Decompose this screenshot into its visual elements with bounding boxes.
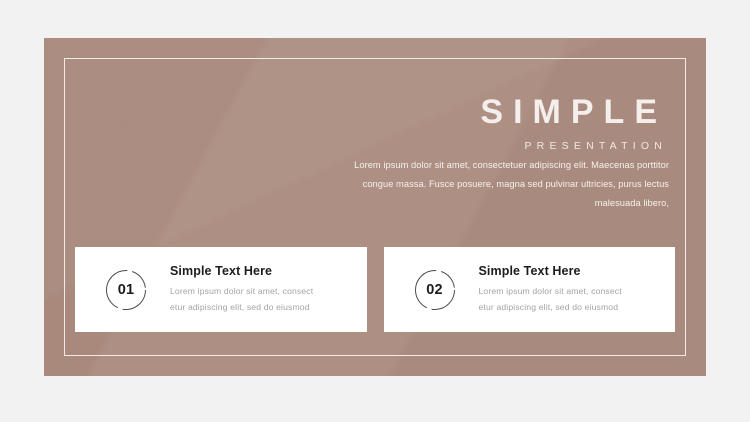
badge-number-label: 02 xyxy=(426,282,443,298)
slide-panel: SIMPLE PRESENTATION Lorem ipsum dolor si… xyxy=(44,38,706,376)
card-description-line-2: etur adipiscing elit, sed do eiusmod xyxy=(479,300,622,316)
card-text: Simple Text Here Lorem ipsum dolor sit a… xyxy=(170,264,313,316)
info-card-01[interactable]: 01 Simple Text Here Lorem ipsum dolor si… xyxy=(75,247,367,332)
number-badge: 02 xyxy=(414,269,456,311)
card-heading: Simple Text Here xyxy=(479,264,622,278)
slide-stage: SIMPLE PRESENTATION Lorem ipsum dolor si… xyxy=(0,0,750,422)
card-heading: Simple Text Here xyxy=(170,264,313,278)
card-description: Lorem ipsum dolor sit amet, consect etur… xyxy=(479,284,622,316)
header-block: SIMPLE PRESENTATION xyxy=(309,95,669,152)
card-description-line-1: Lorem ipsum dolor sit amet, consect xyxy=(170,284,313,300)
slide-title: SIMPLE xyxy=(309,95,669,129)
cards-row: 01 Simple Text Here Lorem ipsum dolor si… xyxy=(75,247,675,332)
card-description: Lorem ipsum dolor sit amet, consect etur… xyxy=(170,284,313,316)
card-text: Simple Text Here Lorem ipsum dolor sit a… xyxy=(479,264,622,316)
number-badge: 01 xyxy=(105,269,147,311)
slide-subtitle: PRESENTATION xyxy=(309,140,669,152)
card-description-line-1: Lorem ipsum dolor sit amet, consect xyxy=(479,284,622,300)
info-card-02[interactable]: 02 Simple Text Here Lorem ipsum dolor si… xyxy=(384,247,676,332)
body-paragraph: Lorem ipsum dolor sit amet, consectetuer… xyxy=(324,156,669,213)
card-description-line-2: etur adipiscing elit, sed do eiusmod xyxy=(170,300,313,316)
badge-number-label: 01 xyxy=(118,282,135,298)
